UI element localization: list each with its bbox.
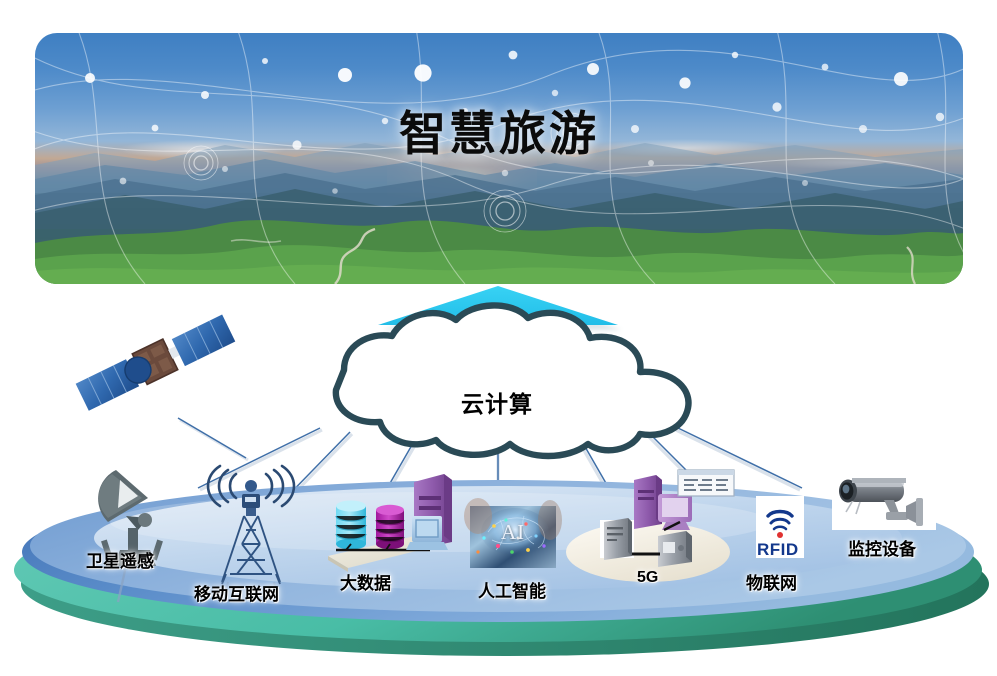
ai-badge-text: AI — [501, 520, 525, 545]
rfid-badge-text: RFID — [757, 540, 799, 560]
hero-banner: 智慧旅游 — [35, 33, 963, 284]
database-cylinder-magenta — [376, 505, 404, 549]
hero-title: 智慧旅游 — [35, 95, 963, 164]
cctv-camera-icon — [832, 472, 936, 530]
node-label-satellite-remote-sensing: 卫星遥感 — [86, 547, 154, 572]
orbiting-satellite-icon — [75, 311, 236, 413]
node-label-internet-of-things: 物联网 — [746, 569, 797, 594]
node-label-five-g: 5G — [637, 569, 658, 587]
node-label-big-data: 大数据 — [340, 569, 391, 594]
smart-tourism-architecture-diagram: 云计算 卫星遥感 移动互联网 大数据 人工智能 5G 物联网 监控设备 RFID… — [0, 284, 997, 676]
database-cylinder-cyan — [336, 501, 366, 550]
cloud-label: 云计算 — [461, 385, 533, 419]
node-label-mobile-internet: 移动互联网 — [194, 580, 279, 605]
node-label-artificial-intelligence: 人工智能 — [478, 577, 546, 602]
node-label-surveillance-equipment: 监控设备 — [848, 535, 916, 560]
